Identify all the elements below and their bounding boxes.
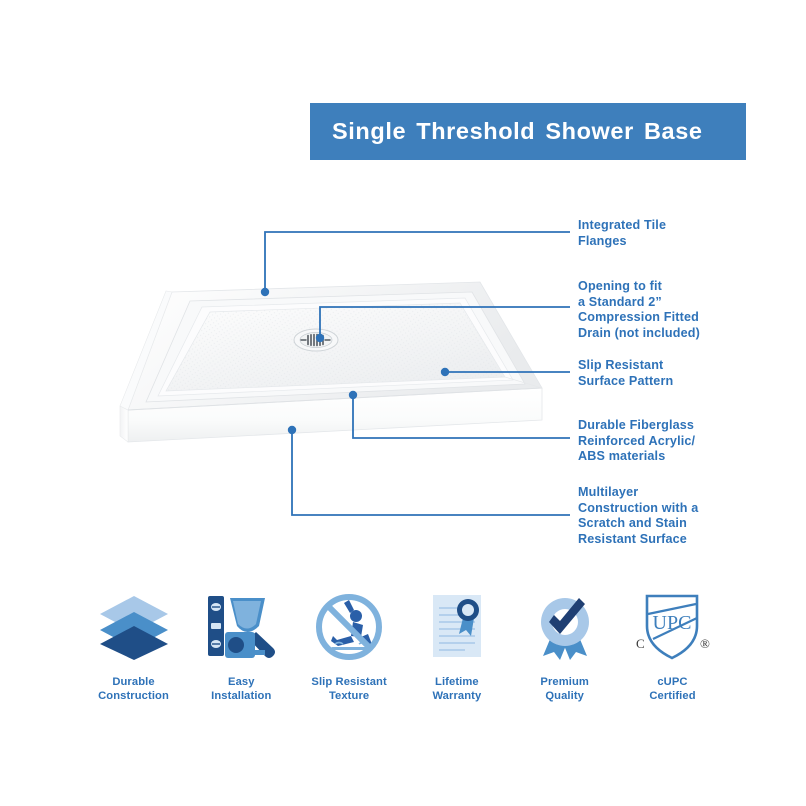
shield-upc-text: UPC [653, 612, 692, 634]
feature-label: Durable Construction [98, 675, 169, 703]
no-slip-icon [311, 588, 387, 666]
feature-cupc-certified: UPC C ® cUPC Certified [619, 588, 726, 703]
callout-integrated-tile-flanges: Integrated Tile Flanges [578, 218, 666, 249]
shield-suffix-text: ® [700, 636, 710, 651]
feature-label: Easy Installation [211, 675, 271, 703]
feature-label: Premium Quality [540, 675, 589, 703]
upc-shield-icon: UPC C ® [629, 588, 715, 666]
drain-grate-icon [294, 329, 338, 351]
callout-durable-materials: Durable Fiberglass Reinforced Acrylic/ A… [578, 418, 695, 465]
feature-label: cUPC Certified [649, 675, 695, 703]
feature-strip: Durable Construction [80, 588, 726, 718]
layers-icon [96, 588, 172, 666]
shield-prefix-text: C [636, 636, 645, 651]
feature-label: Slip Resistant Texture [311, 675, 386, 703]
level-trowel-icon [203, 588, 279, 666]
callout-slip-resistant-surface: Slip Resistant Surface Pattern [578, 358, 673, 389]
feature-label: Lifetime Warranty [432, 675, 481, 703]
slip-resistant-texture-pattern [166, 303, 505, 391]
feature-lifetime-warranty: Lifetime Warranty [403, 588, 510, 703]
callout-multilayer-construction: Multilayer Construction with a Scratch a… [578, 485, 698, 547]
certificate-icon [419, 588, 495, 666]
feature-easy-installation: Easy Installation [188, 588, 295, 703]
check-rosette-icon [527, 588, 603, 666]
feature-durable-construction: Durable Construction [80, 588, 187, 703]
feature-premium-quality: Premium Quality [511, 588, 618, 703]
page-title: Single Threshold Shower Base [332, 118, 703, 145]
feature-slip-resistant-texture: Slip Resistant Texture [296, 588, 403, 703]
title-banner: Single Threshold Shower Base [310, 103, 746, 160]
product-image-shower-base [80, 260, 550, 460]
base-left-side [120, 406, 128, 442]
callout-drain-opening: Opening to fit a Standard 2” Compression… [578, 279, 700, 341]
